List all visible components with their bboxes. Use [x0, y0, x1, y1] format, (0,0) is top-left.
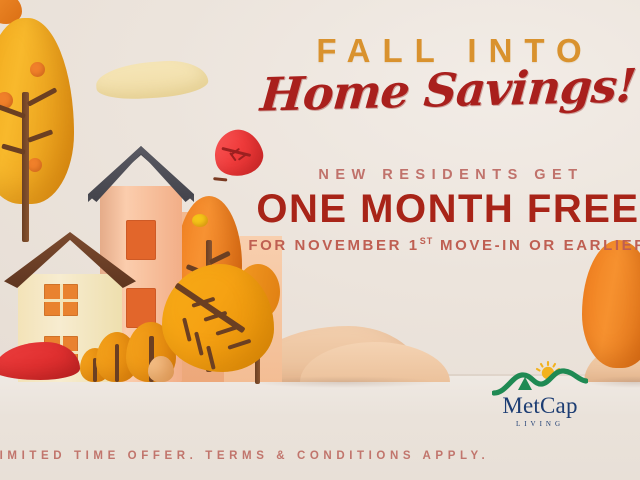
leaf-stem — [213, 177, 227, 181]
house-tall-window-upper — [126, 220, 156, 260]
cloud-blob-decoration — [95, 58, 209, 102]
tree-canopy — [582, 240, 640, 368]
leaf-vein — [194, 332, 204, 356]
metcap-logo[interactable]: MetCap LIVING — [488, 360, 592, 438]
legal-disclaimer: LIMITED TIME OFFER. TERMS & CONDITIONS A… — [0, 450, 488, 462]
metcap-hills-sun-icon — [492, 360, 588, 396]
leaf-vein — [215, 325, 239, 336]
offer-headline: ONE MONTH FREE — [248, 189, 640, 229]
leaf-vein — [206, 346, 216, 370]
leaf-vein — [182, 318, 192, 342]
leaf-vein — [227, 339, 251, 350]
metcap-logo-tagline: LIVING — [488, 420, 592, 428]
offer-subline-ordinal: ST — [420, 236, 434, 246]
offer-subline: FOR NOVEMBER 1ST MOVE-IN OR EARLIER — [248, 236, 640, 254]
copy-block: FALL INTO Home Savings! NEW RESIDENTS GE… — [248, 34, 640, 254]
berry-icon — [28, 158, 42, 172]
offer-subline-suffix: MOVE-IN OR EARLIER — [433, 237, 640, 254]
headline-script: Home Savings! — [246, 64, 640, 116]
metcap-logo-name: MetCap — [488, 394, 592, 417]
red-clay-shape — [0, 342, 80, 380]
tree-yellow-tall — [0, 18, 74, 228]
promotional-banner: FALL INTO Home Savings! NEW RESIDENTS GE… — [0, 0, 640, 480]
house-small-window-upper — [44, 284, 78, 316]
offer-subline-prefix: FOR NOVEMBER 1 — [248, 237, 419, 254]
offer-kicker: NEW RESIDENTS GET — [254, 167, 640, 183]
bush-pale — [148, 356, 174, 382]
berry-icon — [30, 62, 45, 77]
berry-icon — [192, 214, 208, 227]
